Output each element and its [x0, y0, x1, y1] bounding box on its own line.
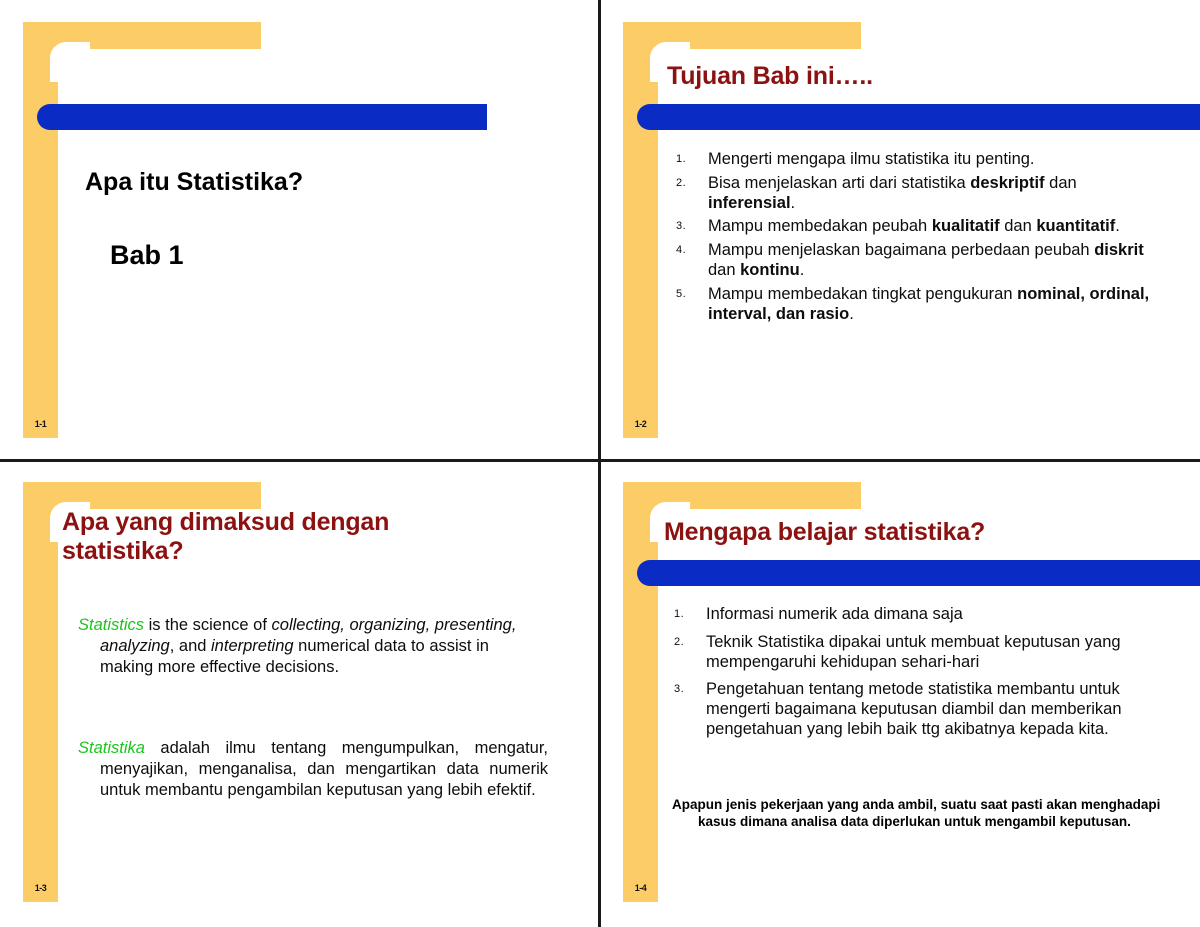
- yellow-left-bar: [23, 22, 58, 438]
- list-item: 1. Mengerti mengapa ilmu statistika itu …: [670, 150, 1155, 170]
- yellow-left-bar: [23, 482, 58, 902]
- list-marker: 2.: [676, 177, 686, 190]
- slide-cell-4: Mengapa belajar statistika? 1. Informasi…: [600, 460, 1200, 927]
- slide-4-title: Mengapa belajar statistika?: [664, 518, 1164, 547]
- list-item: 4. Mampu menjelaskan bagaimana perbedaan…: [670, 241, 1155, 281]
- slide-cell-3: Apa yang dimaksud dengan statistika? Sta…: [0, 460, 600, 927]
- list-text: Mampu menjelaskan bagaimana perbedaan pe…: [708, 241, 1144, 279]
- why-closing-note: Apapun jenis pekerjaan yang anda ambil, …: [672, 796, 1168, 831]
- slide-title-page: Apa itu Statistika? Bab 1 1-1: [0, 0, 600, 460]
- why-list: 1. Informasi numerik ada dimana saja 2. …: [668, 605, 1158, 744]
- page-number: 1-1: [23, 419, 58, 429]
- list-item: 3. Pengetahuan tentang metode statistika…: [668, 680, 1158, 739]
- list-text: Mampu membedakan peubah kualitatif dan k…: [708, 217, 1120, 235]
- list-text: Mampu membedakan tingkat pengukuran nomi…: [708, 285, 1149, 323]
- slide-2-title: Tujuan Bab ini…..: [667, 62, 1147, 91]
- list-text: Bisa menjelaskan arti dari statistika de…: [708, 174, 1077, 212]
- list-marker: 3.: [676, 220, 686, 233]
- list-text: Informasi numerik ada dimana saja: [706, 605, 963, 623]
- list-marker: 3.: [674, 683, 684, 696]
- yellow-left-bar: [623, 22, 658, 438]
- slide-3-title: Apa yang dimaksud dengan statistika?: [62, 508, 482, 567]
- list-text: Teknik Statistika dipakai untuk membuat …: [706, 633, 1121, 671]
- list-marker: 5.: [676, 288, 686, 301]
- list-marker: 4.: [676, 244, 686, 257]
- list-item: 1. Informasi numerik ada dimana saja: [668, 605, 1158, 625]
- blue-accent-bar: [37, 104, 487, 130]
- list-marker: 2.: [674, 636, 684, 649]
- list-item: 2. Teknik Statistika dipakai untuk membu…: [668, 633, 1158, 673]
- slide-handout-grid: Apa itu Statistika? Bab 1 1-1 Tujuan Bab…: [0, 0, 1200, 927]
- yellow-corner-notch: [50, 42, 90, 82]
- objectives-list: 1. Mengerti mengapa ilmu statistika itu …: [670, 150, 1155, 328]
- page-number: 1-4: [623, 883, 658, 893]
- list-item: 2. Bisa menjelaskan arti dari statistika…: [670, 174, 1155, 214]
- definition-paragraph-indonesian: Statistika adalah ilmu tentang mengumpul…: [78, 738, 548, 801]
- slide-cell-1: Apa itu Statistika? Bab 1 1-1: [0, 0, 600, 460]
- slide-objectives-page: Tujuan Bab ini….. 1. Mengerti mengapa il…: [600, 0, 1200, 460]
- page-number: 1-3: [23, 883, 58, 893]
- list-marker: 1.: [676, 153, 686, 166]
- list-item: 3. Mampu membedakan peubah kualitatif da…: [670, 217, 1155, 237]
- blue-accent-bar: [637, 104, 1200, 130]
- blue-accent-bar: [637, 560, 1200, 586]
- list-item: 5. Mampu membedakan tingkat pengukuran n…: [670, 285, 1155, 325]
- slide-1-heading-main: Apa itu Statistika?: [85, 168, 303, 197]
- slide-why-page: Mengapa belajar statistika? 1. Informasi…: [600, 460, 1200, 927]
- slide-1-heading-sub: Bab 1: [110, 240, 184, 271]
- page-number: 1-2: [623, 419, 658, 429]
- yellow-left-bar: [623, 482, 658, 902]
- list-text: Pengetahuan tentang metode statistika me…: [706, 680, 1122, 738]
- list-text: Mengerti mengapa ilmu statistika itu pen…: [708, 150, 1035, 168]
- slide-cell-2: Tujuan Bab ini….. 1. Mengerti mengapa il…: [600, 0, 1200, 460]
- definition-paragraph-english: Statistics is the science of collecting,…: [78, 615, 540, 678]
- list-marker: 1.: [674, 608, 684, 621]
- slide-definition-page: Apa yang dimaksud dengan statistika? Sta…: [0, 460, 600, 927]
